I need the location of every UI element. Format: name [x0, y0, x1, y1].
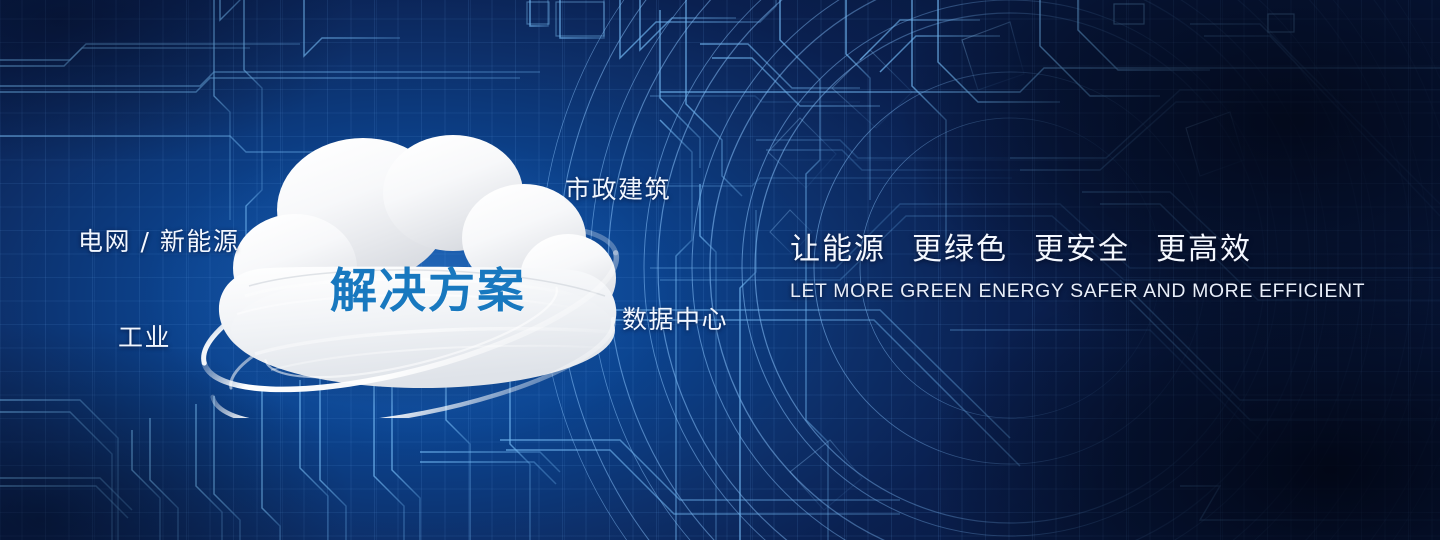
slogan-part-1: 让能源 — [790, 232, 886, 267]
tag-data-center[interactable]: 数据中心 — [622, 300, 728, 336]
slogan-part-3: 更安全 — [1034, 232, 1130, 267]
slogan-part-2: 更绿色 — [912, 232, 1008, 267]
solution-banner: 电网 / 新能源 工业 市政建筑 数据中心 解决方案 让能源更绿色更安全更高效 … — [0, 0, 1440, 540]
page-title: 解决方案 — [330, 252, 526, 321]
slogan-english: LET MORE GREEN ENERGY SAFER AND MORE EFF… — [790, 280, 1350, 303]
tag-grid-new-energy[interactable]: 电网 / 新能源 — [78, 222, 239, 258]
slogan-part-4: 更高效 — [1156, 232, 1252, 267]
tag-industry[interactable]: 工业 — [118, 318, 171, 354]
tag-municipal[interactable]: 市政建筑 — [565, 170, 671, 206]
slogan-block: 让能源更绿色更安全更高效 LET MORE GREEN ENERGY SAFER… — [790, 224, 1350, 303]
slogan-chinese: 让能源更绿色更安全更高效 — [790, 224, 1350, 268]
